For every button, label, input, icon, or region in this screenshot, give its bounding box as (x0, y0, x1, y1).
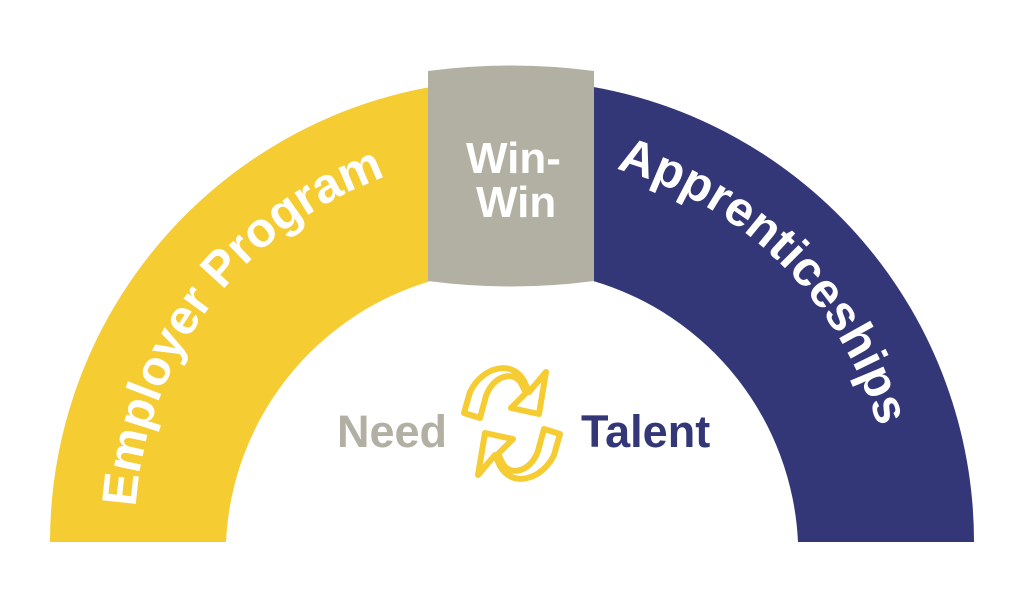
left-arc-segment[interactable]: Employer Program (50, 85, 440, 542)
cycle-arrow-lower-icon (478, 429, 560, 479)
need-label: Need (337, 406, 447, 457)
cycle-arrows-icon (464, 368, 560, 479)
keystone-segment[interactable]: Win- Win (428, 66, 594, 287)
right-arc-segment[interactable]: Apprenticeships (584, 85, 974, 542)
arch-diagram: Employer Program Apprenticeships Win- Wi… (0, 0, 1024, 597)
diagram-root: Employer Program Apprenticeships Win- Wi… (0, 0, 1024, 597)
talent-label: Talent (581, 406, 710, 457)
cycle-arrow-upper-icon (464, 368, 546, 418)
keystone-line-1: Win- (466, 134, 561, 183)
keystone-line-2: Win (476, 178, 556, 227)
